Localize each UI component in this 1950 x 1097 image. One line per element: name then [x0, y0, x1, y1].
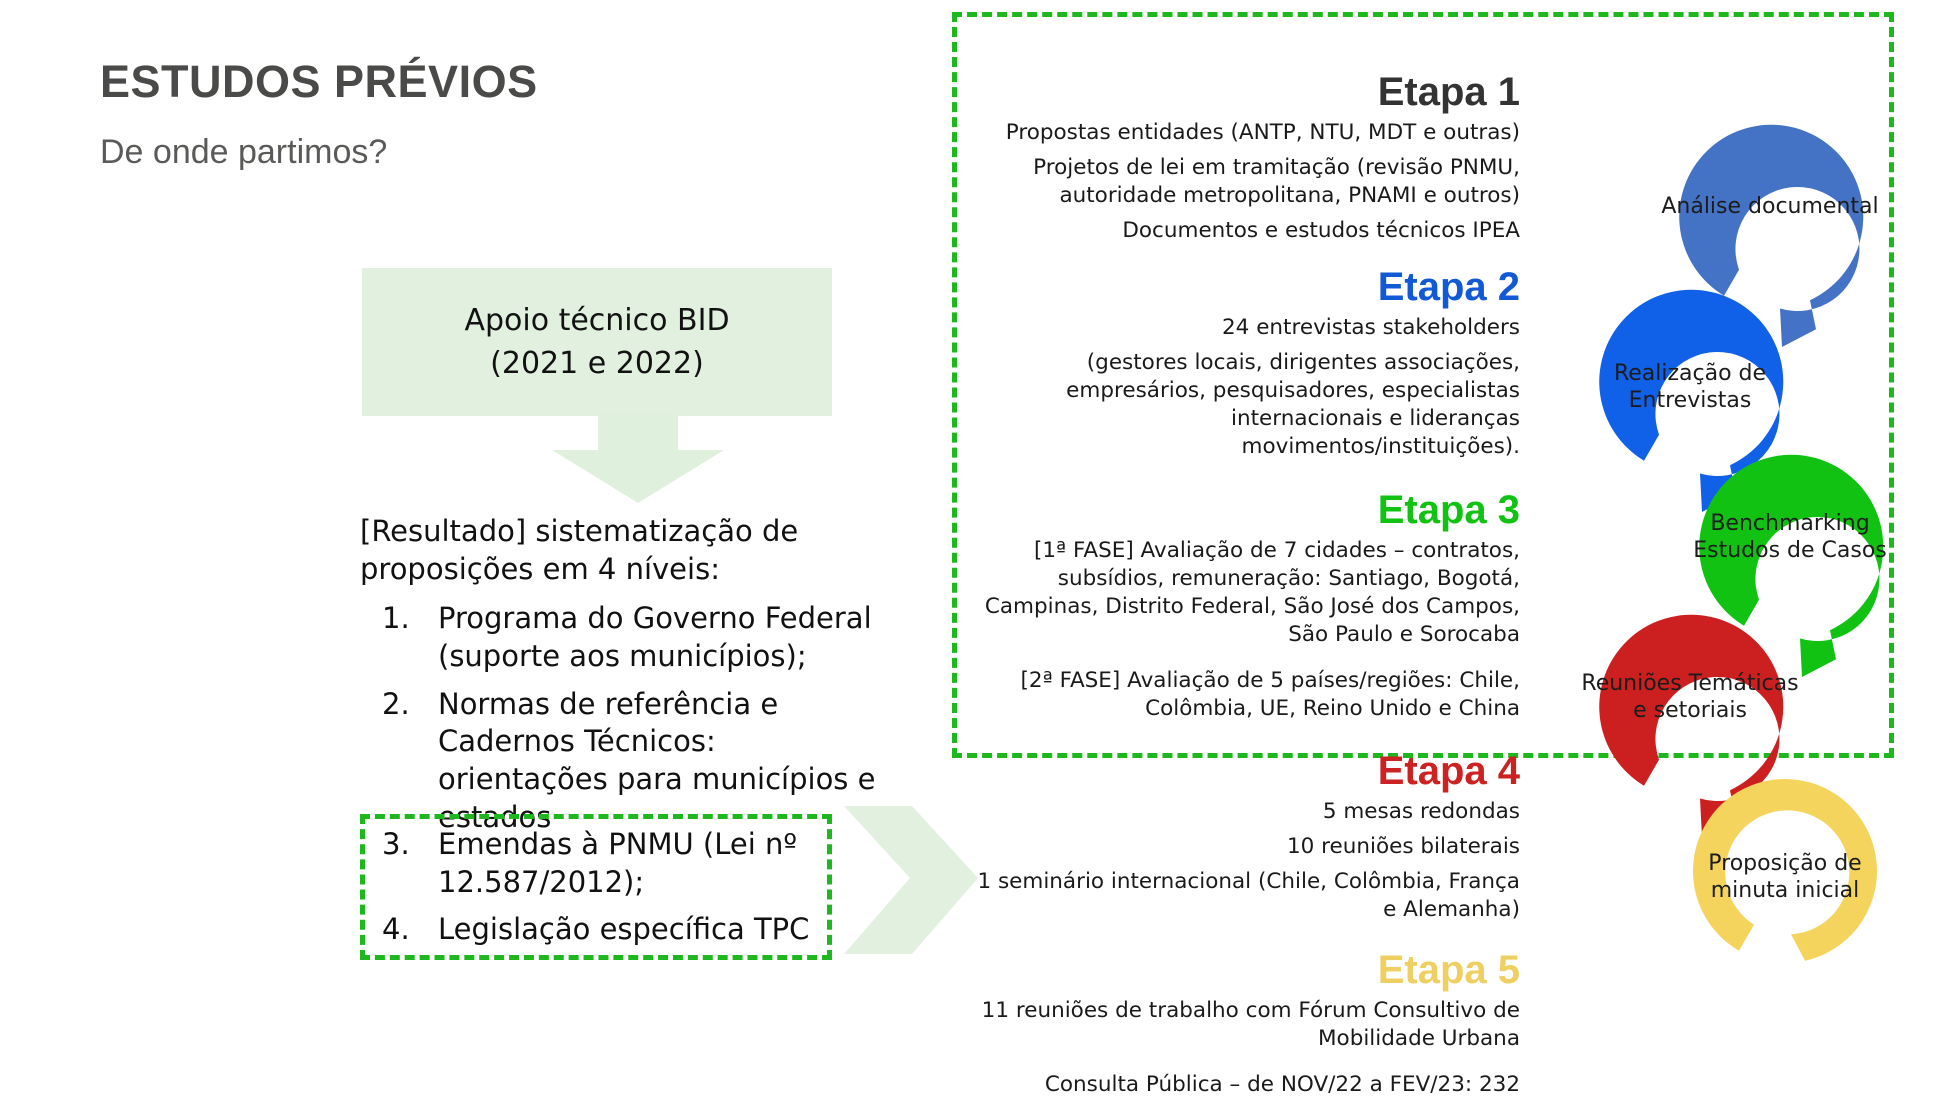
cycle-label-2: Realização de Entrevistas	[1575, 361, 1805, 415]
bid-support-line1: Apoio técnico BID	[464, 299, 729, 343]
etapa-3-block: Etapa 3 [1ª FASE] Avaliação de 7 cidades…	[960, 490, 1520, 723]
etapa-2-paragraph: 24 entrevistas stakeholders	[960, 314, 1520, 342]
page-subtitle: De onde partimos?	[100, 133, 387, 172]
list-item-label: Legislação específica TPC	[438, 912, 809, 946]
etapa-5-heading: Etapa 5	[960, 950, 1520, 990]
etapa-1-heading: Etapa 1	[960, 72, 1520, 112]
etapa-4-paragraph: 1 seminário internacional (Chile, Colômb…	[960, 868, 1520, 924]
down-arrow-icon	[548, 414, 728, 504]
list-item: 3. Emendas à PNMU (Lei nº 12.587/2012);	[360, 826, 860, 901]
cycle-label-1: Análise documental	[1655, 194, 1885, 221]
result-item-list: 1. Programa do Governo Federal (suporte …	[360, 600, 880, 836]
etapas-list: Etapa 1 Propostas entidades (ANTP, NTU, …	[960, 72, 1520, 1097]
list-item-number: 1.	[382, 600, 410, 638]
list-item-number: 3.	[382, 826, 410, 864]
bid-support-line2: (2021 e 2022)	[490, 342, 704, 386]
list-item-label: Normas de referência e Cadernos Técnicos…	[438, 687, 875, 834]
bid-support-box: Apoio técnico BID (2021 e 2022)	[362, 268, 832, 416]
etapa-4-paragraph: 10 reuniões bilaterais	[960, 833, 1520, 861]
slide-canvas: ESTUDOS PRÉVIOS De onde partimos? Apoio …	[0, 0, 1950, 1097]
etapa-1-paragraph: Projetos de lei em tramitação (revisão P…	[960, 154, 1520, 210]
etapa-3-paragraph: [1ª FASE] Avaliação de 7 cidades – contr…	[960, 537, 1520, 649]
list-item: 4. Legislação específica TPC	[360, 911, 860, 949]
cycle-label-4: Reuniões Temáticas e setoriais	[1575, 671, 1805, 725]
etapa-5-block: Etapa 5 11 reuniões de trabalho com Fóru…	[960, 950, 1520, 1097]
list-item-label: Emendas à PNMU (Lei nº 12.587/2012);	[438, 827, 797, 899]
etapa-4-block: Etapa 4 5 mesas redondas 10 reuniões bil…	[960, 751, 1520, 924]
etapa-3-paragraph: [2ª FASE] Avaliação de 5 países/regiões:…	[960, 667, 1520, 723]
etapa-5-paragraph: Consulta Pública – de NOV/22 a FEV/23: 2…	[960, 1071, 1520, 1097]
list-item-number: 2.	[382, 686, 410, 724]
list-item-number: 4.	[382, 911, 410, 949]
etapa-4-heading: Etapa 4	[960, 751, 1520, 791]
etapa-4-paragraph: 5 mesas redondas	[960, 798, 1520, 826]
list-item-label: Programa do Governo Federal (suporte aos…	[438, 601, 872, 673]
page-title: ESTUDOS PRÉVIOS	[100, 56, 538, 108]
result-summary: [Resultado] sistematização de proposiçõe…	[360, 513, 880, 847]
list-item: 1. Programa do Governo Federal (suporte …	[360, 600, 880, 675]
etapa-1-paragraph: Documentos e estudos técnicos IPEA	[960, 217, 1520, 245]
etapa-2-block: Etapa 2 24 entrevistas stakeholders (ges…	[960, 267, 1520, 461]
process-cycle-diagram: Análise documental Realização de Entrevi…	[1530, 96, 1950, 996]
etapa-5-paragraph: 11 reuniões de trabalho com Fórum Consul…	[960, 997, 1520, 1053]
etapa-2-heading: Etapa 2	[960, 267, 1520, 307]
etapa-1-paragraph: Propostas entidades (ANTP, NTU, MDT e ou…	[960, 119, 1520, 147]
result-intro: [Resultado] sistematização de proposiçõe…	[360, 513, 880, 588]
cycle-label-3: Benchmarking Estudos de Casos	[1675, 511, 1905, 565]
cycle-label-5: Proposição de minuta inicial	[1670, 851, 1900, 905]
highlighted-item-list: 3. Emendas à PNMU (Lei nº 12.587/2012); …	[360, 826, 860, 959]
etapa-3-heading: Etapa 3	[960, 490, 1520, 530]
etapa-2-paragraph: (gestores locais, dirigentes associações…	[960, 349, 1520, 461]
etapa-1-block: Etapa 1 Propostas entidades (ANTP, NTU, …	[960, 72, 1520, 245]
